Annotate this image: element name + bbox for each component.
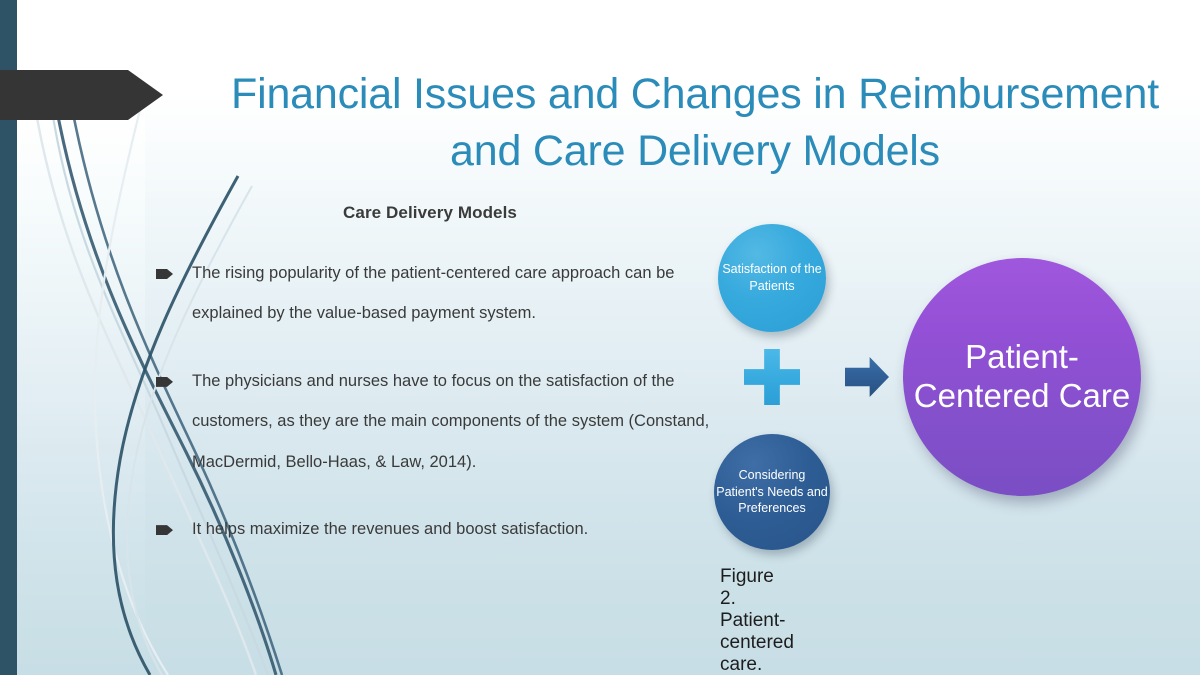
pennant-bullet-icon: [156, 269, 173, 279]
pennant-bullet-icon: [156, 377, 173, 387]
body-content: Care Delivery Models The rising populari…: [150, 203, 710, 550]
list-item: The rising popularity of the patient-cen…: [150, 253, 710, 334]
arrow-right-icon: [845, 357, 889, 397]
bullet-text: The rising popularity of the patient-cen…: [192, 264, 674, 322]
bullet-text: It helps maximize the revenues and boost…: [192, 520, 588, 538]
list-item: It helps maximize the revenues and boost…: [150, 509, 710, 549]
bullet-text: The physicians and nurses have to focus …: [192, 372, 709, 471]
pennant-bullet-icon: [156, 525, 173, 535]
subheading: Care Delivery Models: [150, 203, 710, 223]
list-item: The physicians and nurses have to focus …: [150, 361, 710, 482]
diagram-node-label: Considering Patient's Needs and Preferen…: [714, 467, 830, 517]
diagram-node-label: Patient-Centered Care: [903, 338, 1141, 416]
slide-title: Financial Issues and Changes in Reimburs…: [230, 66, 1160, 180]
diagram-node-label: Satisfaction of the Patients: [718, 261, 826, 295]
diagram-node-result: Patient-Centered Care: [903, 258, 1141, 496]
diagram-node-satisfaction: Satisfaction of the Patients: [718, 224, 826, 332]
plus-icon: [744, 349, 800, 405]
bullet-list: The rising popularity of the patient-cen…: [150, 253, 710, 550]
figure-caption: Figure 2. Patient-centered care.: [720, 566, 794, 675]
diagram-node-needs: Considering Patient's Needs and Preferen…: [714, 434, 830, 550]
presentation-slide: Financial Issues and Changes in Reimburs…: [0, 0, 1200, 675]
